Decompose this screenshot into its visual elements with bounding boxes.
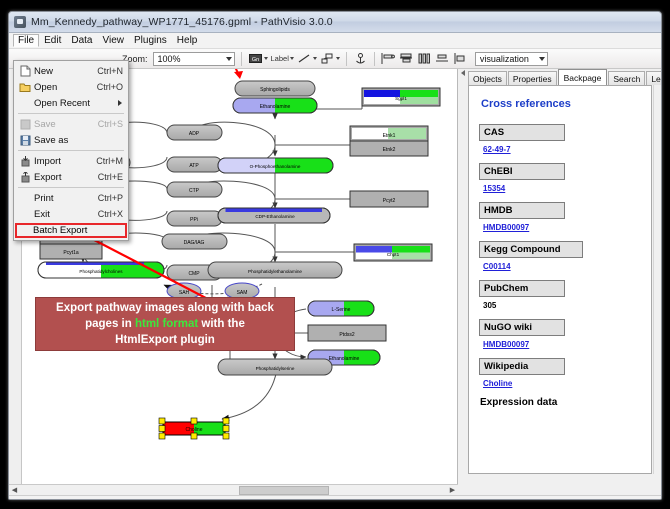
node-label: Choline: [186, 427, 203, 433]
menu-item-open-recent[interactable]: Open Recent: [14, 95, 128, 111]
node-phosphatidylcholines[interactable]: Phosphatidylcholines: [38, 262, 164, 278]
menu-item-label: Import: [34, 156, 96, 167]
toolbar-divider: [374, 52, 375, 66]
status-gene-database: Gene database: ...m_Derby_20120602.bridg…: [18, 498, 191, 500]
new-document-icon: [16, 65, 34, 77]
callout-line1: Export pathway images along with back: [56, 302, 274, 314]
canvas-hscrollbar[interactable]: ◀ ▶: [9, 484, 458, 495]
export-icon: [16, 172, 34, 183]
svg-text:Gn: Gn: [251, 57, 258, 63]
anchor-icon[interactable]: [353, 51, 368, 66]
zoom-value: 100%: [158, 54, 181, 64]
gene-label: Pcyt1a: [63, 250, 79, 256]
menu-item-export[interactable]: Export Ctrl+E: [14, 169, 128, 185]
menu-item-label: Export: [34, 172, 98, 183]
node-label: SAH: [179, 290, 190, 296]
annotation-callout: Export pathway images along with back pa…: [35, 297, 295, 351]
menu-item-accel: Ctrl+E: [98, 172, 128, 182]
chevron-down-icon: [226, 57, 232, 61]
node-label: ADP: [189, 131, 200, 137]
visualization-value: visualization: [480, 54, 529, 64]
menu-item-accel: Ctrl+M: [96, 156, 128, 166]
menu-item-exit[interactable]: Exit Ctrl+X: [14, 206, 128, 222]
status-separator: |: [13, 498, 15, 500]
file-menu-dropdown[interactable]: New Ctrl+N Open Ctrl+O Open Recent Save …: [13, 60, 129, 241]
node-sphingolipids[interactable]: Sphingolipids: [235, 81, 315, 96]
node-label: O-Phosphoethanolamine: [250, 164, 301, 169]
menu-item-label: Open Recent: [34, 98, 118, 109]
node-adp[interactable]: ADP: [167, 125, 222, 140]
gene-chpt1[interactable]: Chpt1: [354, 244, 432, 261]
xref-link[interactable]: Choline: [483, 379, 512, 388]
shape-tool[interactable]: [320, 51, 340, 66]
node-phosphatidylserine[interactable]: Phosphatidylserine: [218, 359, 332, 375]
tab-properties[interactable]: Properties: [508, 71, 557, 85]
gene-label: Pcyt2: [383, 198, 396, 204]
gene-sgpl1[interactable]: Sgpl1: [362, 88, 440, 106]
menu-item-new[interactable]: New Ctrl+N: [14, 63, 128, 79]
menu-divider: [18, 113, 124, 114]
status-dataset: Dataset: ...wnloads\trans-meta.pgex: [385, 498, 521, 500]
save-disk-icon: [16, 119, 34, 130]
menu-item-accel: Ctrl+P: [98, 193, 128, 203]
xref-pubchem: PubChem 305: [479, 280, 641, 310]
chevron-down-icon: [539, 57, 545, 61]
xref-value[interactable]: Choline: [479, 375, 641, 388]
chevron-down-icon: [313, 57, 317, 60]
node-o-phosphoethanolamine[interactable]: O-Phosphoethanolamine: [218, 158, 333, 173]
xref-value[interactable]: 15354: [479, 180, 641, 193]
tab-objects[interactable]: Objects: [468, 71, 507, 85]
callout-line2-post: with the: [198, 318, 245, 330]
side-panel: Objects Properties Backpage Search Legen…: [459, 69, 662, 484]
callout-line2-highlight: html format: [135, 318, 198, 330]
node-label: SAM: [237, 290, 248, 296]
import-icon: [16, 156, 34, 167]
menu-bar: File Edit Data View Plugins Help: [9, 33, 661, 49]
menu-item-label: Open: [34, 82, 97, 93]
chevron-down-icon: [264, 57, 268, 60]
shape-icon: [320, 51, 335, 66]
scroll-right-icon[interactable]: ▶: [447, 485, 458, 495]
menu-help[interactable]: Help: [172, 34, 203, 47]
menu-item-label: Save as: [34, 135, 123, 146]
chevron-down-icon: [336, 57, 340, 60]
node-label: CMP: [188, 271, 200, 277]
gene-etnk1[interactable]: Etnk1: [350, 126, 428, 141]
node-ctp[interactable]: CTP: [167, 182, 222, 197]
xref-value[interactable]: HMDB00097: [479, 336, 641, 349]
app-icon: [14, 16, 26, 28]
xref-kegg-compound: Kegg Compound C00114: [479, 241, 641, 271]
visualization-combo[interactable]: visualization: [475, 52, 548, 66]
menu-item-batch-export[interactable]: Batch Export: [15, 223, 127, 238]
menu-item-import[interactable]: Import Ctrl+M: [14, 153, 128, 169]
menu-item-label: New: [34, 66, 97, 77]
menu-item-accel: Ctrl+N: [97, 66, 128, 76]
group-icon[interactable]: [453, 51, 468, 66]
gene-product-icon: Gn: [248, 51, 263, 66]
node-choline-selected[interactable]: Choline: [159, 418, 229, 439]
align-center-icon[interactable]: [399, 51, 414, 66]
menu-view[interactable]: View: [97, 34, 129, 47]
status-separator: |: [380, 498, 382, 500]
node-ethanolamine[interactable]: Ethanolamine: [233, 98, 317, 113]
callout-line2-pre: pages in: [85, 318, 135, 330]
node-label: Ethanolamine: [329, 356, 360, 362]
backpage-content: Cross references CAS 62-49-7 ChEBI 15354…: [468, 85, 652, 474]
menu-item-accel: Ctrl+S: [98, 119, 128, 129]
node-label: DAG/IAG: [184, 240, 205, 246]
node-label: Phosphatidylcholines: [79, 269, 123, 274]
menu-divider: [18, 150, 124, 151]
xref-name: NuGO wiki: [479, 319, 565, 336]
hscroll-thumb[interactable]: [239, 486, 329, 495]
node-ppi[interactable]: PPi: [167, 211, 222, 226]
node-label: Sphingolipids: [260, 87, 290, 93]
cross-references-title: Cross references: [481, 98, 641, 110]
gene-label: Chpt1: [387, 252, 400, 257]
node-phosphatidylethanolamine[interactable]: Phosphatidylethanolamine: [208, 262, 342, 278]
gene-pcyt1a[interactable]: Pcyt1a: [40, 244, 102, 259]
xref-value[interactable]: 62-49-7: [479, 141, 641, 154]
open-folder-icon: [16, 82, 34, 93]
status-separator: |: [194, 498, 196, 500]
menu-file[interactable]: File: [13, 34, 39, 47]
menu-divider: [18, 187, 124, 188]
scroll-left-icon[interactable]: ◀: [9, 485, 20, 495]
xref-link[interactable]: 62-49-7: [483, 145, 511, 154]
chevron-down-icon: [290, 57, 294, 60]
line-tool[interactable]: [297, 51, 317, 66]
line-icon: [297, 51, 312, 66]
node-label: Phosphatidylserine: [256, 366, 295, 371]
xref-name: Kegg Compound: [479, 241, 583, 258]
xref-link[interactable]: HMDB00097: [483, 340, 529, 349]
distribute-icon[interactable]: [417, 51, 432, 66]
toolbar-divider: [241, 52, 242, 66]
xref-name: PubChem: [479, 280, 565, 297]
xref-value[interactable]: C00114: [479, 258, 641, 271]
node-label: PPi: [190, 217, 198, 223]
gene-pcyt2[interactable]: Pcyt2: [350, 191, 428, 207]
zoom-combo[interactable]: 100%: [153, 52, 235, 66]
xref-name: CAS: [479, 124, 565, 141]
screenshot-frame: Mm_Kennedy_pathway_WP1771_45176.gpml - P…: [0, 0, 670, 509]
xref-hmdb: HMDB HMDB00097: [479, 202, 641, 232]
title-bar: Mm_Kennedy_pathway_WP1771_45176.gpml - P…: [9, 12, 661, 33]
stack-icon[interactable]: [435, 51, 450, 66]
menu-item-label: Batch Export: [17, 225, 125, 236]
xref-link[interactable]: HMDB00097: [483, 223, 529, 232]
xref-value[interactable]: HMDB00097: [479, 219, 641, 232]
menu-data[interactable]: Data: [66, 34, 97, 47]
status-bar: | Gene database: ...m_Derby_20120602.bri…: [9, 495, 662, 500]
menu-item-label: Print: [34, 193, 98, 204]
xref-name: ChEBI: [479, 163, 565, 180]
tab-backpage[interactable]: Backpage: [558, 69, 608, 85]
expression-data-title: Expression data: [480, 397, 641, 408]
gene-label: Ptdss2: [339, 332, 355, 338]
node-label: CTP: [189, 188, 200, 194]
label-tool-text: Label: [271, 54, 289, 63]
side-panel-tabs: Objects Properties Backpage Search Legen…: [459, 69, 662, 85]
pathvisio-window: Mm_Kennedy_pathway_WP1771_45176.gpml - P…: [8, 11, 662, 500]
align-left-icon[interactable]: [381, 51, 396, 66]
menu-plugins[interactable]: Plugins: [129, 34, 172, 47]
menu-item-save: Save Ctrl+S: [14, 116, 128, 132]
node-label: L-Serine: [332, 307, 351, 313]
xref-wikipedia: Wikipedia Choline: [479, 358, 641, 388]
gene-ptdss2[interactable]: Ptdss2: [308, 325, 386, 341]
menu-item-accel: Ctrl+X: [98, 209, 128, 219]
node-label: ATP: [189, 163, 199, 169]
xref-name: Wikipedia: [479, 358, 565, 375]
menu-item-accel: Ctrl+O: [97, 82, 128, 92]
node-dag[interactable]: DAG/IAG: [162, 234, 227, 249]
tab-search[interactable]: Search: [608, 71, 645, 85]
node-l-serine[interactable]: L-Serine: [308, 301, 374, 316]
gene-label: Sgpl1: [395, 96, 407, 101]
gene-label: Etnk1: [383, 133, 396, 139]
label-tool[interactable]: Label: [271, 54, 294, 63]
gene-etnk2[interactable]: Etnk2: [350, 141, 428, 156]
menu-item-open[interactable]: Open Ctrl+O: [14, 79, 128, 95]
gene-product-tool[interactable]: Gn: [248, 51, 268, 66]
window-title: Mm_Kennedy_pathway_WP1771_45176.gpml - P…: [31, 16, 333, 28]
node-label: CDP-Ethanolamine: [255, 214, 295, 219]
xref-value: 305: [479, 297, 641, 310]
callout-line3: HtmlExport plugin: [115, 334, 215, 346]
xref-nugo-wiki: NuGO wiki HMDB00097: [479, 319, 641, 349]
node-atp[interactable]: ATP: [167, 157, 222, 172]
toolbar-divider: [346, 52, 347, 66]
save-as-icon: [16, 135, 34, 146]
menu-edit[interactable]: Edit: [39, 34, 66, 47]
xref-cas: CAS 62-49-7: [479, 124, 641, 154]
gene-label: Etnk2: [383, 147, 396, 153]
menu-item-print[interactable]: Print Ctrl+P: [14, 190, 128, 206]
xref-chebi: ChEBI 15354: [479, 163, 641, 193]
xref-link[interactable]: 15354: [483, 184, 505, 193]
status-metabolite-database: Metabolite database: ...tabolites_111203…: [199, 498, 377, 500]
side-panel-vscrollbar[interactable]: [653, 85, 662, 474]
xref-link[interactable]: C00114: [483, 262, 511, 271]
xref-name: HMDB: [479, 202, 565, 219]
menu-item-save-as[interactable]: Save as: [14, 132, 128, 148]
node-label: Ethanolamine: [260, 104, 291, 110]
menu-item-label: Exit: [34, 209, 98, 220]
chevron-right-icon: [118, 100, 122, 106]
menu-item-label: Save: [34, 119, 98, 130]
node-label: Phosphatidylethanolamine: [248, 269, 302, 274]
node-cdp-ethanolamine[interactable]: CDP-Ethanolamine: [218, 208, 330, 223]
tab-legend[interactable]: Legend: [646, 71, 662, 85]
